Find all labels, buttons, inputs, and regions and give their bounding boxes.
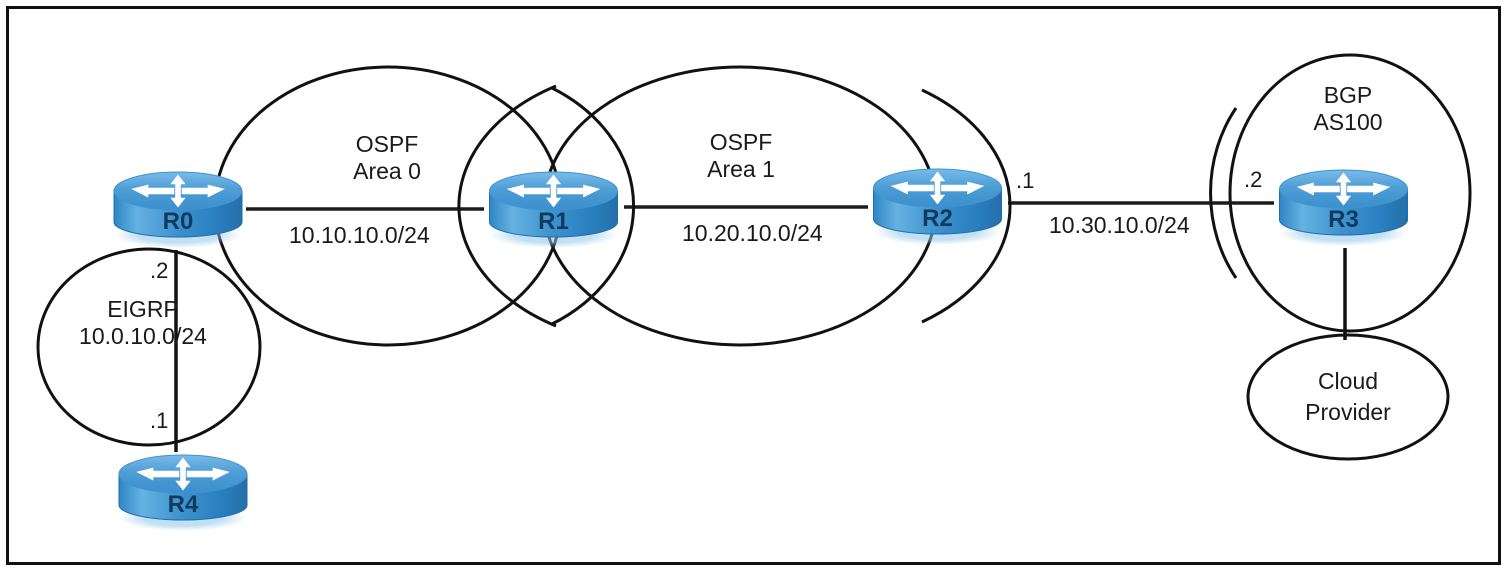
interface-label-r4-eigrp: .1 [150, 408, 168, 434]
domain-label-bgp-line1: BGP [1262, 82, 1434, 109]
router-icon-r3[interactable] [1280, 170, 1408, 246]
network-label-10-10-10: 10.10.10.0/24 [289, 222, 430, 249]
domain-label-ospf-area-1-line1: OSPF [655, 129, 827, 156]
interface-label-r2-wan: .1 [1016, 168, 1034, 194]
interface-label-r0-eigrp: .2 [150, 258, 168, 284]
router-icon-r4[interactable] [119, 455, 247, 531]
domain-label-ospf-area-0-line2: Area 0 [301, 158, 473, 185]
domain-label-bgp-as100: BGP AS100 [1262, 82, 1434, 136]
interface-label-r3-wan: .2 [1244, 167, 1262, 193]
network-label-10-30-10: 10.30.10.0/24 [1049, 212, 1190, 239]
cloud-provider-label: Cloud Provider [1248, 366, 1448, 428]
domain-label-ospf-area-0: OSPF Area 0 [301, 131, 473, 185]
domain-label-eigrp-line1: EIGRP [30, 296, 256, 323]
router-icon-r1[interactable] [490, 172, 618, 248]
router-icon-r0[interactable] [114, 172, 242, 248]
router-icon-r2[interactable] [874, 169, 1002, 245]
network-label-10-20-10: 10.20.10.0/24 [682, 220, 823, 247]
domain-label-ospf-area-1: OSPF Area 1 [655, 129, 827, 183]
cloud-provider-label-line2: Provider [1248, 397, 1448, 428]
domain-label-eigrp-line2: 10.0.10.0/24 [30, 323, 256, 350]
domain-label-ospf-area-1-line2: Area 1 [655, 156, 827, 183]
diagram-canvas: OSPF Area 0 OSPF Area 1 EIGRP 10.0.10.0/… [0, 0, 1509, 573]
domain-label-bgp-line2: AS100 [1262, 109, 1434, 136]
domain-label-ospf-area-0-line1: OSPF [301, 131, 473, 158]
cloud-provider-label-line1: Cloud [1248, 366, 1448, 397]
domain-label-eigrp: EIGRP 10.0.10.0/24 [30, 296, 256, 350]
